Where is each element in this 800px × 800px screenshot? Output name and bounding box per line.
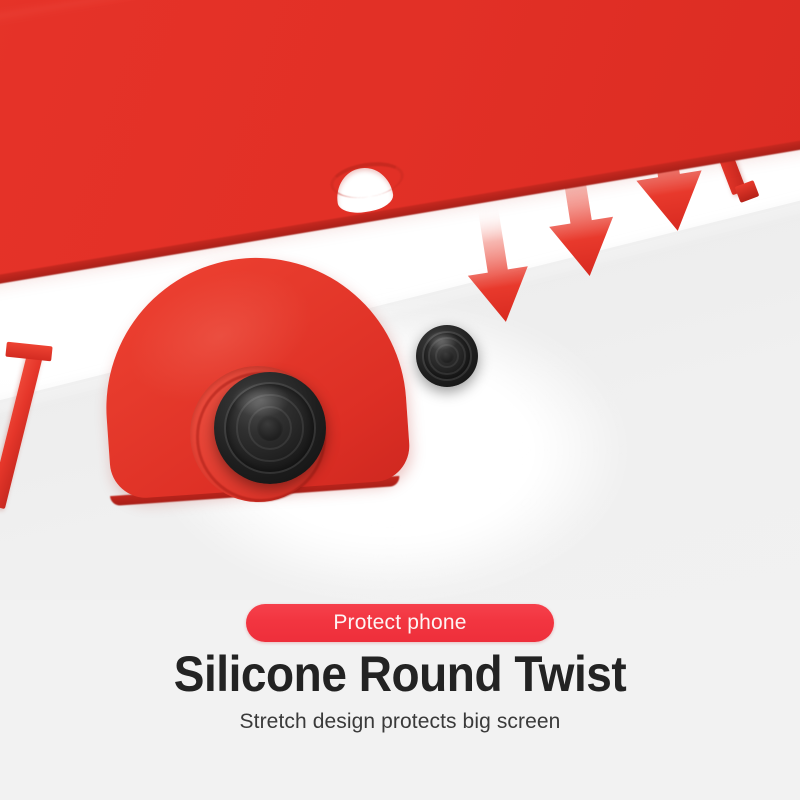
knob-center	[257, 415, 284, 442]
page-subtitle: Stretch design protects big screen	[0, 710, 800, 734]
knob-gloss	[232, 383, 290, 417]
product-photo	[0, 0, 800, 600]
badge-row: Protect phone	[0, 604, 800, 642]
knob-ring	[248, 406, 293, 451]
knob-center	[440, 349, 455, 364]
product-banner: Protect phone Silicone Round Twist Stret…	[0, 0, 800, 800]
slab-highlight-band	[0, 0, 596, 53]
caption-panel: Protect phone Silicone Round Twist Stret…	[0, 600, 800, 800]
down-arrow-icon	[454, 202, 540, 329]
large-twist-knob	[214, 372, 326, 484]
page-title: Silicone Round Twist	[32, 648, 768, 701]
knob-gloss	[426, 331, 458, 350]
knob-ring	[435, 344, 460, 369]
status-badge: Protect phone	[246, 604, 554, 642]
small-twist-knob	[416, 325, 478, 387]
